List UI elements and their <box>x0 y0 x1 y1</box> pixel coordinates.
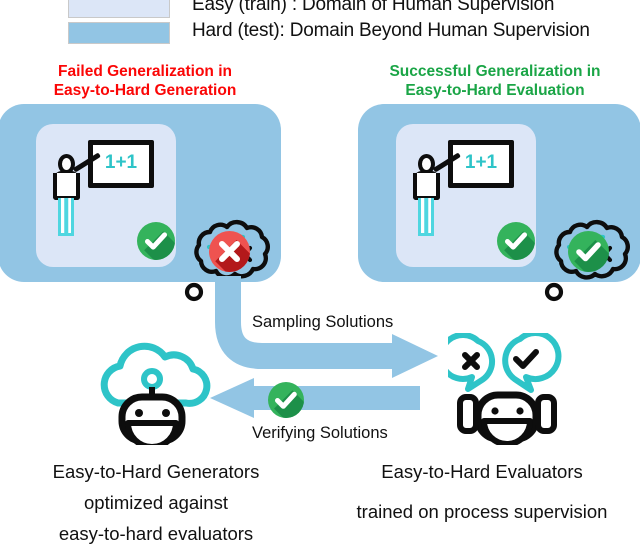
sampling-solutions-label: Sampling Solutions <box>252 313 393 332</box>
left-title-line1: Failed Generalization in <box>0 62 290 81</box>
blackboard-icon: 1+1 <box>88 140 154 188</box>
blackboard-icon: 1+1 <box>448 140 514 188</box>
easy-check-icon <box>497 222 535 260</box>
right-easy-domain-card: 1+1 <box>396 124 536 267</box>
teacher-body-icon <box>53 173 80 200</box>
evaluators-caption-line2: trained on process supervision <box>324 496 640 527</box>
verifying-solutions-label: Verifying Solutions <box>252 424 388 443</box>
teacher-legs-icon <box>58 198 74 236</box>
legend-label-easy: Easy (train) : Domain of Human Supervisi… <box>192 0 554 16</box>
legend-label-hard: Hard (test): Domain Beyond Human Supervi… <box>192 20 590 42</box>
blackboard-text: 1+1 <box>93 152 149 174</box>
right-panel-title: Successful Generalization in Easy-to-Har… <box>350 62 640 100</box>
right-title-line2: Easy-to-Hard Evaluation <box>350 81 640 100</box>
figure-canvas: Easy (train) : Domain of Human Supervisi… <box>0 0 640 547</box>
evaluators-caption: Easy-to-Hard Evaluators trained on proce… <box>324 456 640 527</box>
left-easy-domain-card: 1+1 <box>36 124 176 267</box>
right-title-line1: Successful Generalization in <box>350 62 640 81</box>
generators-caption-line3: easy-to-hard evaluators <box>0 518 312 549</box>
evaluator-robot-icon <box>448 333 566 445</box>
verify-check-icon <box>268 382 304 418</box>
generator-cloud-robot-icon <box>88 341 216 445</box>
easy-check-icon <box>137 222 175 260</box>
blackboard-text: 1+1 <box>453 152 509 174</box>
easy-swatch <box>68 0 170 18</box>
generators-caption-line2: optimized against <box>0 487 312 518</box>
failed-cross-icon <box>209 231 250 272</box>
hard-swatch <box>68 22 170 44</box>
left-title-line2: Easy-to-Hard Generation <box>0 81 290 100</box>
successful-check-icon <box>568 231 609 272</box>
generators-caption-line1: Easy-to-Hard Generators <box>0 456 312 487</box>
teacher-body-icon <box>413 173 440 200</box>
left-panel-title: Failed Generalization in Easy-to-Hard Ge… <box>0 62 290 100</box>
teacher-legs-icon <box>418 198 434 236</box>
generators-caption: Easy-to-Hard Generators optimized agains… <box>0 456 312 549</box>
evaluators-caption-line1: Easy-to-Hard Evaluators <box>324 456 640 487</box>
